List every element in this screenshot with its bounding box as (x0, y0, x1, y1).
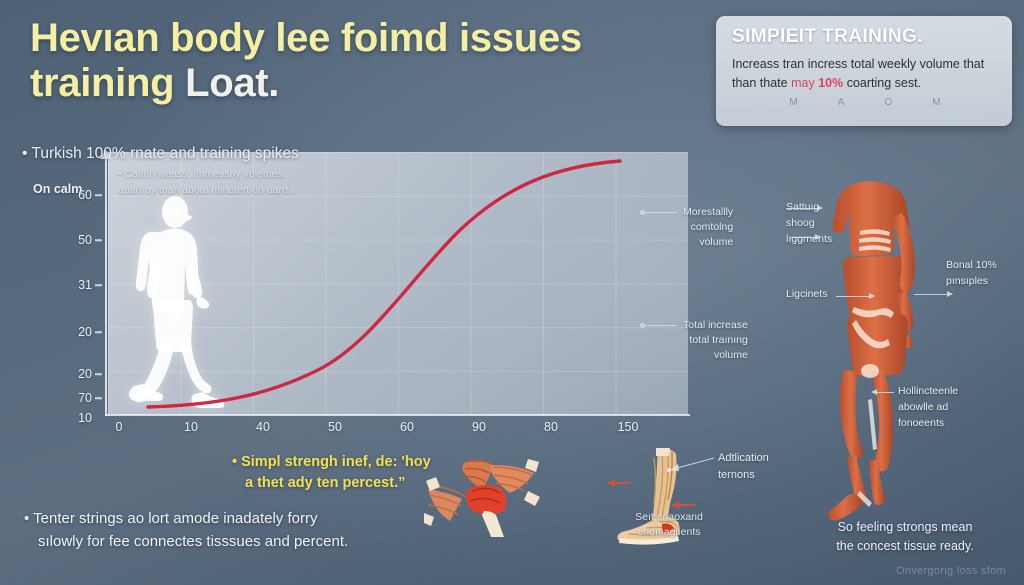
info-body-may: may (791, 76, 815, 90)
chart-bullet-subtext-line2: apart by than about minutert on oarrt. (118, 182, 291, 198)
anatomy-arrow-5 (876, 392, 894, 393)
legend-item-o: O (884, 97, 892, 108)
bottom-right-callout: So feeling strongs mean the concest tiss… (798, 518, 1012, 556)
foot-label-tendons-line1: Adtlication (718, 450, 769, 467)
chart-callout-1: Morestallly comtolng volume (640, 205, 733, 251)
y-tick-0: 60 (78, 188, 92, 202)
bottom-yellow-line1: • Simpl strengh inef, de: 'hoy (232, 452, 492, 473)
y-tick-1: 50 (78, 233, 92, 247)
bottom-right-line1: So feeling strongs mean (798, 518, 1012, 537)
chart-callout-2: Total increase total traınıng volume (640, 318, 748, 364)
anatomy-label-hollincteenle: Hollincteenle abowlle ad fonoeents (898, 384, 958, 431)
foot-label-endpoints-line1: Seıt enaoxand (614, 510, 724, 525)
y-tick-5: 70 (78, 391, 92, 405)
anatomy-arrow-1 (786, 208, 818, 209)
callout-2-line3: volume (714, 349, 748, 361)
y-tick-3: 20 (78, 325, 92, 339)
bottom-yellow-callout: • Simpl strengh inef, de: 'hoy a thet ad… (232, 452, 492, 494)
foot-label-endpoints-line2: endıtıaglıents (614, 525, 724, 540)
anatomy-label-bonal-line1: Bonal 10% (946, 258, 997, 274)
anatomy-label-ligaments-line2: shoog (786, 216, 832, 232)
x-tick-5: 90 (472, 420, 486, 434)
page-title: Hevıan body lee foimd issues training Lo… (30, 16, 710, 106)
title-line-2-yellow: training (30, 61, 185, 105)
callout-1-line1: Morestallly (683, 206, 733, 218)
callout-2-line2: total traınıng (689, 334, 747, 346)
x-tick-1: 10 (184, 420, 198, 434)
legend-item-m2: M (932, 97, 940, 108)
bottom-white-callout: • Tenter strings ao lort amode inadately… (24, 508, 484, 554)
chart-bullet-subtext: • Calmh weass. immesshy volemes. apart b… (118, 166, 291, 199)
bottom-yellow-line2: a thet ady ten percest.” (232, 473, 492, 494)
x-tick-0: 0 (116, 420, 123, 434)
anatomy-label-hollincteenle-line3: fonoeents (898, 416, 958, 432)
info-card-body: Increass tran incress total weekly volum… (732, 55, 998, 93)
callout-2-line1: Total increase (683, 319, 748, 331)
anatomy-label-ligaments-line3: lıggrnents (786, 232, 832, 248)
x-tick-7: 150 (618, 420, 639, 434)
callout-1-line3: volume (699, 236, 733, 248)
chart-callout-1-text: Morestallly comtolng volume (683, 205, 733, 251)
chart-y-axis (105, 158, 107, 416)
chart-x-tick-labels: 0 10 40 50 60 90 80 150 (108, 420, 698, 442)
y-tick-4: 20 (78, 367, 92, 381)
bottom-right-line2: the concest tissue ready. (798, 537, 1012, 556)
anatomy-label-hollincteenle-line2: abowlle ad (898, 400, 958, 416)
info-card-legend: M A O M (732, 97, 998, 108)
foot-label-tendons-line2: ternons (718, 467, 769, 484)
callout-1-line2: comtolng (691, 221, 734, 233)
muscular-anatomy-figure (826, 175, 936, 525)
info-card: SIMPIEIT TRAINING. Increass tran incress… (716, 16, 1012, 126)
anatomy-label-hollincteenle-line1: Hollincteenle (898, 384, 958, 400)
x-tick-3: 50 (328, 420, 342, 434)
info-body-percent: 10% (818, 76, 843, 90)
watermark: Onvergorig loss sfom (896, 565, 1006, 577)
legend-item-a: A (838, 97, 845, 108)
callout-leader-line (645, 212, 677, 213)
x-tick-4: 60 (400, 420, 414, 434)
chart-y-tick-labels: 60 50 31 20 20 70 10 (58, 150, 102, 420)
chart-bullet-heading: • Turkish 100% rnate and training spikes (22, 145, 299, 163)
title-line-1: Hevıan body lee foimd issues (30, 16, 710, 61)
anatomy-label-bonal: Bonal 10% pınsıples (946, 258, 997, 290)
callout-leader-line (645, 325, 677, 326)
x-tick-2: 40 (256, 420, 270, 434)
chart-callout-2-text: Total increase total traınıng volume (683, 318, 748, 364)
anatomy-arrow-4 (914, 294, 948, 295)
bottom-white-line1: • Tenter strings ao lort amode inadately… (24, 508, 484, 531)
anatomy-label-ligcinets: Ligcinets (786, 287, 827, 303)
title-line-2: training Loat. (30, 61, 710, 106)
y-tick-6: 10 (78, 411, 92, 425)
chart-x-axis (105, 414, 690, 416)
y-tick-2: 31 (78, 278, 92, 292)
foot-label-endpoints: Seıt enaoxand endıtıaglıents (614, 510, 724, 540)
info-card-heading: SIMPIEIT TRAINING. (732, 26, 998, 48)
anatomy-arrow-3 (836, 296, 870, 297)
foot-label-tendons: Adtlication ternons (718, 450, 769, 483)
bottom-white-line2: sılowly for fee connectes tisssues and p… (24, 531, 484, 554)
title-line-2-white: Loat. (185, 61, 279, 105)
x-tick-6: 80 (544, 420, 558, 434)
chart-bullet-subtext-line1: • Calmh weass. immesshy volemes. (118, 166, 291, 182)
info-body-part2: coarting sest. (843, 76, 921, 90)
anatomy-label-bonal-line2: pınsıples (946, 274, 997, 290)
anatomy-arrow-2 (790, 237, 816, 238)
legend-item-m1: M (789, 97, 797, 108)
